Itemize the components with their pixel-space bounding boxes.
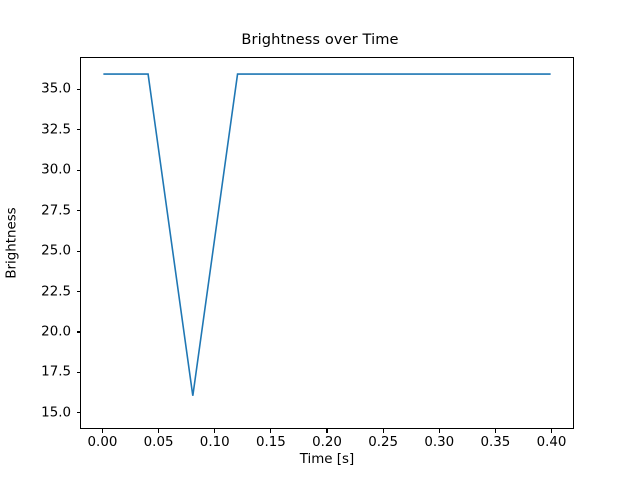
chart-figure: Brightness over Time Brightness 15.017.5… <box>0 0 640 480</box>
y-axis-tick-label: 25.0 <box>41 244 71 259</box>
y-axis-tick-label: 17.5 <box>41 365 71 380</box>
y-axis-tick-label: 20.0 <box>41 324 71 339</box>
x-axis-tick-labels: 0.000.050.100.150.200.250.300.350.40 <box>80 429 574 453</box>
y-axis-tick-label: 27.5 <box>41 203 71 218</box>
x-axis-tick-label: 0.25 <box>368 435 398 450</box>
x-axis-tick-label: 0.20 <box>312 435 342 450</box>
y-axis-tick-labels: 15.017.520.022.525.027.530.032.535.0 <box>0 57 71 429</box>
x-axis-tick-label: 0.00 <box>88 435 118 450</box>
y-axis-tick-label: 32.5 <box>41 122 71 137</box>
x-axis-tick-label: 0.30 <box>424 435 454 450</box>
x-axis-tick-label: 0.35 <box>480 435 510 450</box>
data-line-svg <box>81 58 573 428</box>
x-axis-tick-label: 0.15 <box>256 435 286 450</box>
y-axis-tick-label: 22.5 <box>41 284 71 299</box>
y-axis-tick-label: 15.0 <box>41 405 71 420</box>
x-axis-tick-label: 0.10 <box>200 435 230 450</box>
x-axis-tick-label: 0.40 <box>537 435 567 450</box>
chart-title: Brightness over Time <box>0 31 640 48</box>
x-axis-tick-label: 0.05 <box>144 435 174 450</box>
x-axis-label: Time [s] <box>80 452 574 467</box>
y-axis-tick-label: 30.0 <box>41 163 71 178</box>
plot-area <box>80 57 574 429</box>
y-axis-tick-label: 35.0 <box>41 82 71 97</box>
line-series-brightness <box>103 74 550 396</box>
